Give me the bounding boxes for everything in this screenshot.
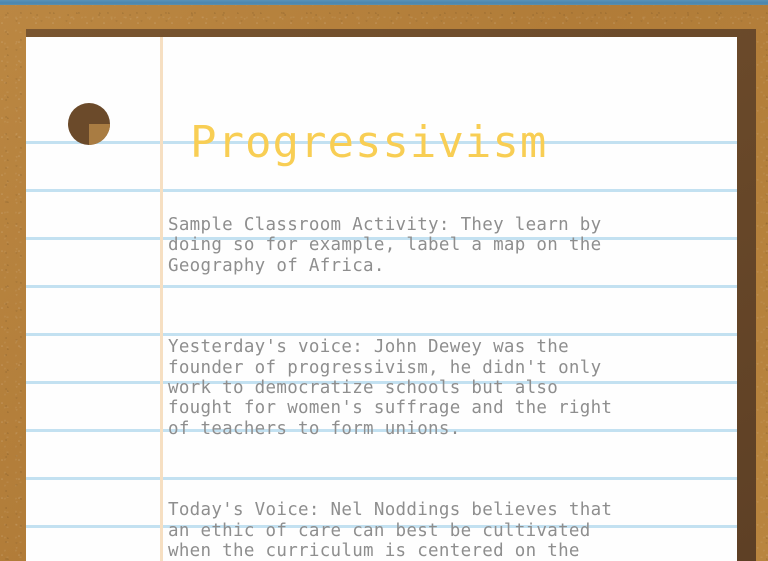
paragraph-yesterdays-voice: Yesterday's voice: John Dewey was the fo…: [168, 337, 713, 439]
circle-bite-icon: [68, 103, 110, 145]
slide-body-text: Sample Classroom Activity: They learn by…: [168, 174, 713, 561]
slide-header: Progressivism: [26, 37, 737, 178]
page-title: Progressivism: [190, 121, 547, 165]
top-blue-strip: [0, 0, 768, 5]
paragraph-todays-voice: Today's Voice: Nel Noddings believes tha…: [168, 500, 713, 561]
slide-screen: Progressivism Sample Classroom Activity:…: [0, 0, 768, 561]
notebook-paper: Progressivism Sample Classroom Activity:…: [26, 37, 737, 561]
paragraph-sample-activity: Sample Classroom Activity: They learn by…: [168, 215, 713, 276]
